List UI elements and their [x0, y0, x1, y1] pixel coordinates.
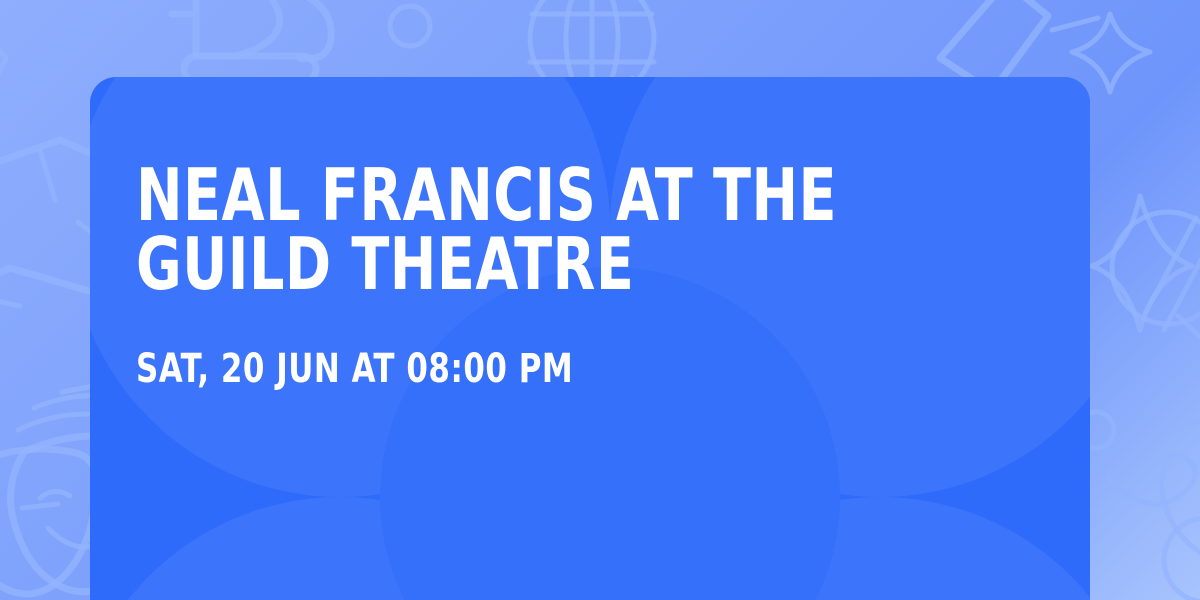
- event-card[interactable]: Neal Francis at The Guild Theatre Sat, 2…: [90, 77, 1090, 600]
- event-banner: Neal Francis at The Guild Theatre Sat, 2…: [0, 0, 1200, 600]
- confetti-sliver-icon: [0, 222, 96, 508]
- event-datetime: Sat, 20 Jun at 08:00 PM: [136, 349, 841, 389]
- star-icon: [0, 30, 6, 92]
- podium-icon: [172, 0, 331, 82]
- event-title: Neal Francis at The Guild Theatre: [136, 161, 962, 299]
- card-content: Neal Francis at The Guild Theatre Sat, 2…: [136, 161, 956, 389]
- microphone-icon: [1112, 196, 1200, 348]
- sparkle-icon: [1092, 196, 1192, 330]
- balloon-icon: [1108, 421, 1200, 600]
